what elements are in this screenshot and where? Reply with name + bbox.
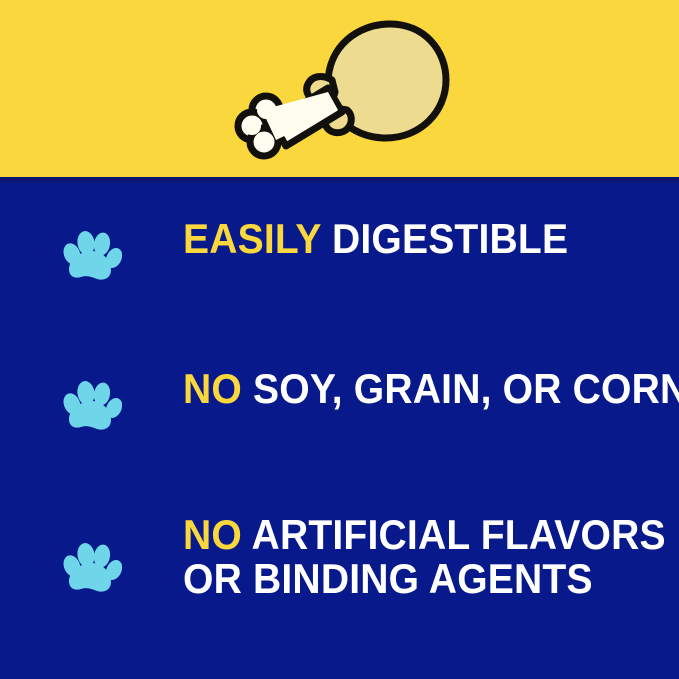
benefit-rest: DIGESTIBLE: [321, 215, 568, 262]
paw-print-icon: [0, 513, 183, 599]
benefit-line: OR BINDING AGENTS: [183, 557, 666, 601]
benefit-list: EASILY DIGESTIBLE NO SOY, GRAIN, OR CORN: [0, 183, 679, 679]
paw-print-icon: [0, 217, 183, 287]
benefit-line: NO SOY, GRAIN, OR CORN: [183, 367, 679, 411]
hero-band: [0, 0, 679, 177]
chicken-drumstick-icon: [232, 18, 452, 163]
benefit-line: EASILY DIGESTIBLE: [183, 217, 644, 261]
benefit-text: EASILY DIGESTIBLE: [183, 217, 644, 261]
benefit-row: NO SOY, GRAIN, OR CORN: [0, 367, 679, 463]
benefit-row: EASILY DIGESTIBLE: [0, 217, 679, 313]
benefit-rest: SOY, GRAIN, OR CORN: [242, 365, 679, 412]
benefit-highlight: NO: [183, 511, 242, 558]
benefit-rest: OR BINDING AGENTS: [183, 555, 593, 602]
benefit-text: NO ARTIFICIAL FLAVORS OR BINDING AGENTS: [183, 513, 666, 601]
benefit-highlight: NO: [183, 365, 242, 412]
benefit-highlight: EASILY: [183, 215, 321, 262]
product-benefits-infographic: EASILY DIGESTIBLE NO SOY, GRAIN, OR CORN: [0, 0, 679, 679]
benefit-rest: ARTIFICIAL FLAVORS: [242, 511, 666, 558]
benefit-text: NO SOY, GRAIN, OR CORN: [183, 367, 679, 411]
benefit-row: NO ARTIFICIAL FLAVORS OR BINDING AGENTS: [0, 513, 679, 629]
benefit-line: NO ARTIFICIAL FLAVORS: [183, 513, 666, 557]
paw-print-icon: [0, 367, 183, 437]
